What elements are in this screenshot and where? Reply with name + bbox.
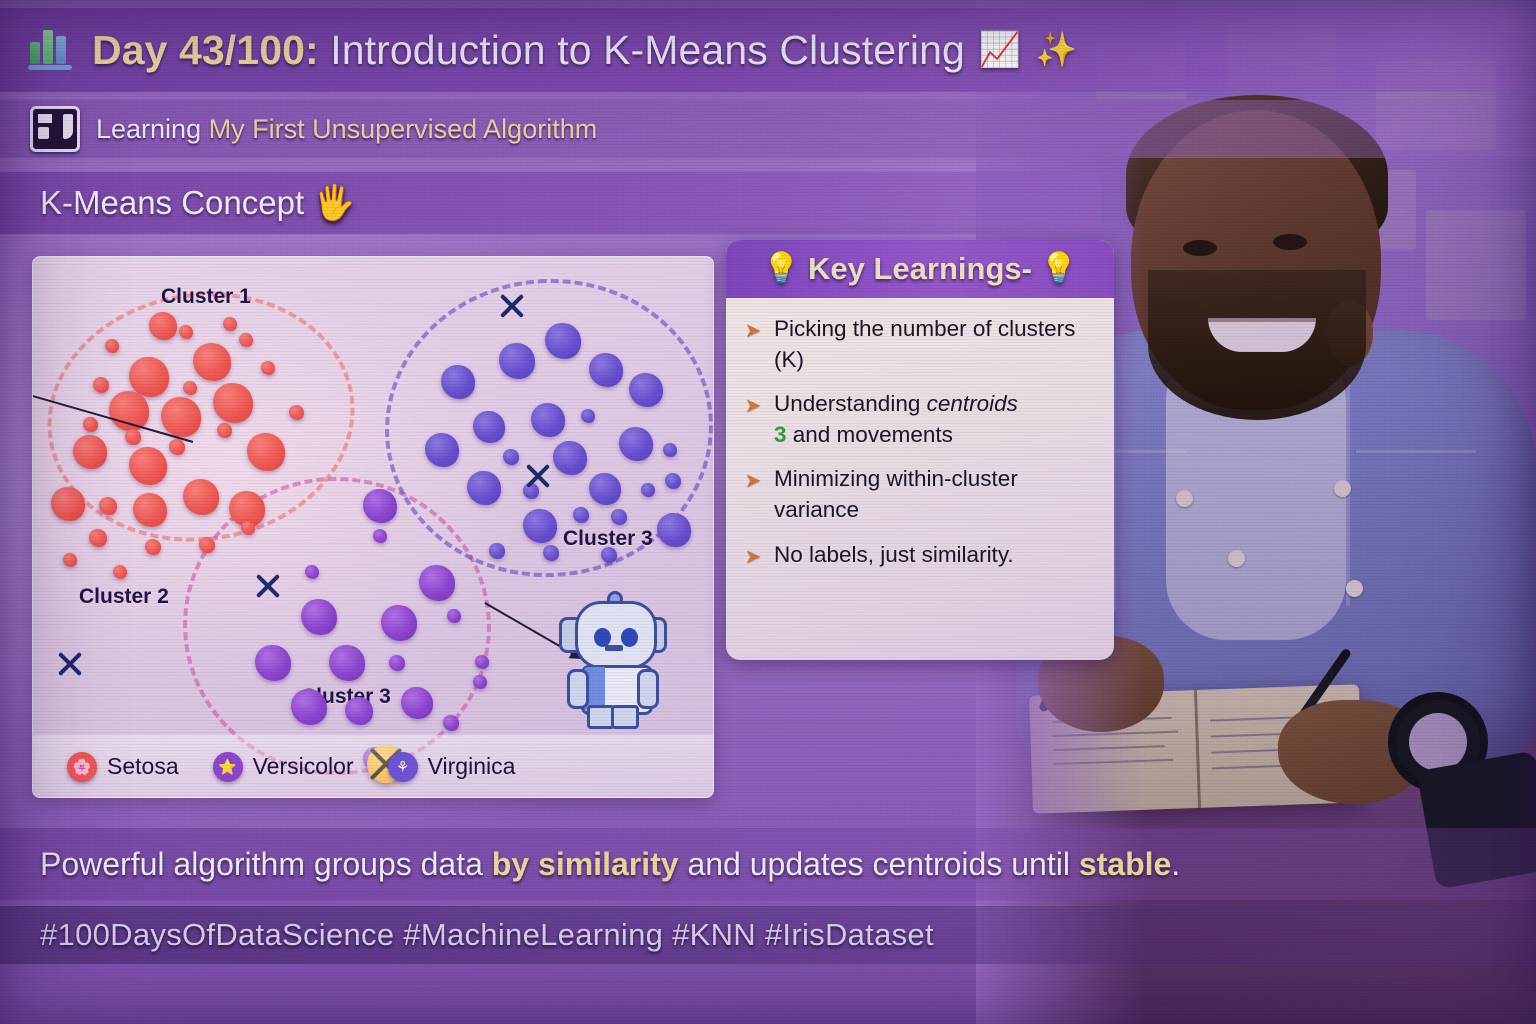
section-title: K-Means Concept 🖐 <box>40 184 356 222</box>
summary-highlight-1: by similarity <box>492 846 679 882</box>
key-learning-text-1: Picking the number of clusters (K) <box>774 314 1096 375</box>
title-bar: Day 43/100: Introduction to K-Means Clus… <box>0 8 1536 92</box>
lightbulb-left-icon: 💡 <box>763 254 800 284</box>
sub-header-text: Learning My First Unsupervised Algorithm <box>96 114 597 145</box>
legend-item-setosa[interactable]: 🌸 Setosa <box>67 752 179 782</box>
news-article-icon <box>30 106 80 152</box>
summary-bar: Powerful algorithm groups data by simila… <box>0 828 1536 900</box>
kmeans-scatter-chart: Cluster 1 Cluster 3 Cluster 2 Cluster 3 <box>32 256 714 798</box>
summary-part-2: and updates centroids until <box>679 846 1079 882</box>
summary-text: Powerful algorithm groups data by simila… <box>40 846 1180 883</box>
key-learning-text-4: No labels, just similarity. <box>774 540 1014 571</box>
x-marker <box>57 651 83 677</box>
star-icon: ➤ <box>742 546 764 568</box>
legend-label-versicolor: Versicolor <box>253 753 354 780</box>
hashtag-bar: #100DaysOfDataScience #MachineLearning #… <box>0 906 1536 964</box>
x-marker <box>525 463 551 489</box>
key-learning-text-3: Minimizing within-cluster variance <box>774 464 1096 525</box>
page-title: Day 43/100: Introduction to K-Means Clus… <box>92 27 965 74</box>
day-counter: Day 43/100: <box>92 27 319 73</box>
section-title-text: K-Means Concept <box>40 184 313 221</box>
hashtags: #100DaysOfDataScience #MachineLearning #… <box>40 917 934 953</box>
versicolor-swatch-icon: ⭐ <box>213 752 243 782</box>
sub-header-prefix: Learning <box>96 114 209 144</box>
hand-icon: 🖐 <box>313 184 355 222</box>
key-learnings-card: 💡 Key Learnings- 💡 ➤ Picking the number … <box>726 240 1114 660</box>
list-item: ➤ No labels, just similarity. <box>742 540 1096 571</box>
setosa-swatch-icon: 🌸 <box>67 752 97 782</box>
legend-label-setosa: Setosa <box>107 753 179 780</box>
summary-part-1: Powerful algorithm groups data <box>40 846 492 882</box>
key-learnings-list: ➤ Picking the number of clusters (K) ➤ U… <box>726 298 1114 594</box>
list-item: ➤ Picking the number of clusters (K) <box>742 314 1096 375</box>
chart-legend: 🌸 Setosa ⭐ Versicolor ⚘ Virginica <box>33 735 713 797</box>
cluster-label-1: Cluster 1 <box>161 285 251 309</box>
lightbulb-right-icon: 💡 <box>1040 254 1077 284</box>
slide-canvas: Day 43/100: Introduction to K-Means Clus… <box>0 0 1536 1024</box>
list-item: ➤ Minimizing within-cluster variance <box>742 464 1096 525</box>
star-icon: ➤ <box>742 395 764 417</box>
key-learnings-header: 💡 Key Learnings- 💡 <box>726 240 1114 298</box>
key-learning-text-2: Understanding centroids3 and movements <box>774 389 1018 450</box>
sub-header-highlight: My First Unsupervised Algorithm <box>209 114 598 144</box>
summary-highlight-2: stable <box>1079 846 1171 882</box>
bar-chart-icon <box>28 27 78 73</box>
robot-mascot-icon <box>561 597 665 727</box>
legend-item-versicolor[interactable]: ⭐ Versicolor <box>213 752 354 782</box>
sub-header-bar: Learning My First Unsupervised Algorithm <box>0 100 1536 158</box>
legend-label-virginica: Virginica <box>428 753 516 780</box>
sparkles-icon: ✨ <box>1035 33 1077 67</box>
chart-increasing-icon: 📈 <box>979 33 1021 67</box>
list-item: ➤ Understanding centroids3 and movements <box>742 389 1096 450</box>
legend-item-virginica[interactable]: ⚘ Virginica <box>388 752 516 782</box>
star-icon: ➤ <box>742 320 764 342</box>
title-rest: Introduction to K-Means Clustering <box>319 27 965 73</box>
section-header: K-Means Concept 🖐 <box>0 172 1100 234</box>
summary-part-3: . <box>1171 846 1180 882</box>
cluster-label-2: Cluster 2 <box>79 585 169 609</box>
star-icon: ➤ <box>742 470 764 492</box>
x-marker <box>499 293 525 319</box>
virginica-swatch-icon: ⚘ <box>388 752 418 782</box>
key-learnings-title: Key Learnings- <box>808 251 1032 287</box>
x-marker <box>255 573 281 599</box>
